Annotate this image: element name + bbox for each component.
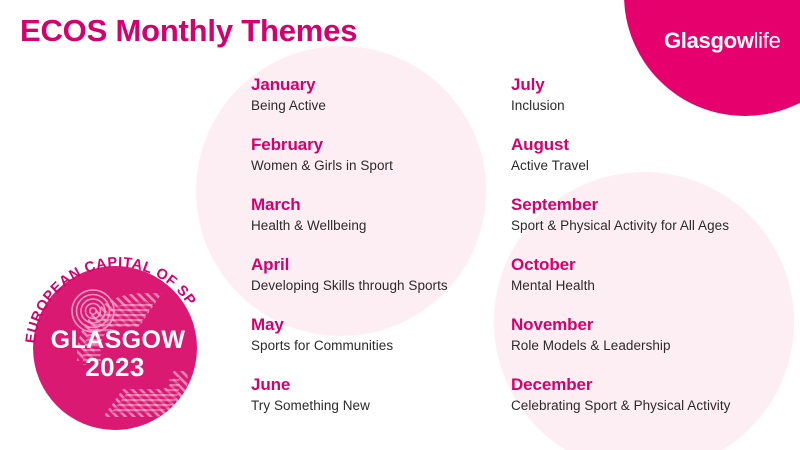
month-name: April bbox=[251, 254, 501, 277]
month-theme: Mental Health bbox=[511, 277, 796, 296]
month-theme: Sports for Communities bbox=[251, 337, 501, 356]
glasgow-life-logo-bold: Glasgow bbox=[664, 28, 754, 53]
glasgow-life-logo-light: life bbox=[754, 28, 781, 53]
month-entry-september: September Sport & Physical Activity for … bbox=[511, 194, 796, 254]
month-name: October bbox=[511, 254, 796, 277]
month-entry-october: October Mental Health bbox=[511, 254, 796, 314]
month-entry-june: June Try Something New bbox=[251, 374, 501, 434]
month-entry-may: May Sports for Communities bbox=[251, 314, 501, 374]
month-entry-january: January Being Active bbox=[251, 74, 501, 134]
month-theme: Sport & Physical Activity for All Ages bbox=[511, 217, 796, 236]
month-name: March bbox=[251, 194, 501, 217]
month-entry-july: July Inclusion bbox=[511, 74, 796, 134]
month-entry-february: February Women & Girls in Sport bbox=[251, 134, 501, 194]
month-name: January bbox=[251, 74, 501, 97]
month-name: November bbox=[511, 314, 796, 337]
month-name: September bbox=[511, 194, 796, 217]
month-theme: Try Something New bbox=[251, 397, 501, 416]
month-name: May bbox=[251, 314, 501, 337]
month-entry-december: December Celebrating Sport & Physical Ac… bbox=[511, 374, 796, 434]
month-theme: Health & Wellbeing bbox=[251, 217, 501, 236]
month-name: July bbox=[511, 74, 796, 97]
month-name: December bbox=[511, 374, 796, 397]
glasgow-life-logo: Glasgowlife bbox=[664, 30, 781, 52]
month-theme: Women & Girls in Sport bbox=[251, 157, 501, 176]
month-theme: Being Active bbox=[251, 97, 501, 116]
month-name: February bbox=[251, 134, 501, 157]
month-theme: Active Travel bbox=[511, 157, 796, 176]
month-name: June bbox=[251, 374, 501, 397]
month-theme: Celebrating Sport & Physical Activity bbox=[511, 397, 796, 416]
emblem-year-text: 2023 bbox=[85, 352, 144, 382]
month-entry-april: April Developing Skills through Sports bbox=[251, 254, 501, 314]
page-title: ECOS Monthly Themes bbox=[20, 12, 357, 49]
european-capital-of-sport-2023-logo: EUROPEAN CAPITAL OF SPORT 2023 GLASGOW 2… bbox=[19, 249, 205, 435]
month-entry-march: March Health & Wellbeing bbox=[251, 194, 501, 254]
slide-canvas: Glasgowlife ECOS Monthly Themes January … bbox=[0, 0, 800, 450]
month-name: August bbox=[511, 134, 796, 157]
month-entry-november: November Role Models & Leadership bbox=[511, 314, 796, 374]
month-theme: Role Models & Leadership bbox=[511, 337, 796, 356]
month-theme: Inclusion bbox=[511, 97, 796, 116]
month-theme: Developing Skills through Sports bbox=[251, 277, 501, 296]
emblem-city-text: GLASGOW bbox=[51, 326, 186, 354]
month-entry-august: August Active Travel bbox=[511, 134, 796, 194]
month-column-right: July Inclusion August Active Travel Sept… bbox=[511, 74, 796, 434]
month-column-left: January Being Active February Women & Gi… bbox=[251, 74, 501, 434]
